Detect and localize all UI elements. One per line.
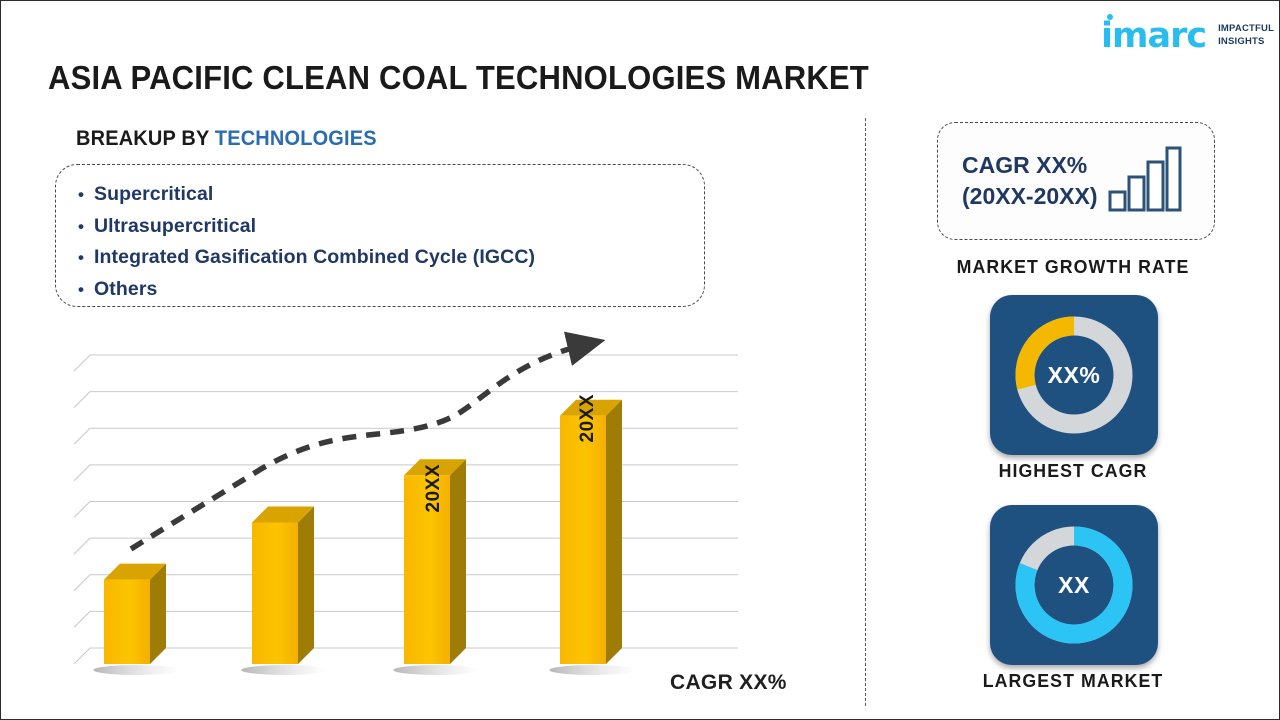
bar-side-face (450, 459, 466, 664)
cagr-line-2: (20XX-20XX) (962, 181, 1098, 212)
bullet-icon: • (78, 243, 94, 274)
bar-side-face (606, 400, 622, 664)
largest-market-card: XX (990, 505, 1158, 665)
list-item: • Others (78, 274, 704, 306)
list-item: • Supercritical (78, 179, 704, 211)
vertical-divider (865, 118, 866, 706)
bar-front-face (560, 416, 606, 664)
chart-cagr-annotation: CAGR XX% (670, 671, 787, 695)
logo-dot-icon (1107, 14, 1113, 20)
logo-wordmark-text: imarc (1101, 16, 1206, 56)
logo-tagline: IMPACTFUL INSIGHTS (1218, 23, 1274, 49)
gridline (74, 428, 738, 444)
bar-side-face (150, 564, 166, 664)
imarc-logo: imarc IMPACTFUL INSIGHTS (1101, 15, 1271, 57)
bullet-icon: • (78, 212, 94, 243)
bar-chart-icon (1108, 146, 1182, 217)
bullet-icon: • (78, 180, 94, 211)
cagr-line-1: CAGR XX% (962, 150, 1098, 181)
list-item: • Integrated Gasification Combined Cycle… (78, 242, 704, 274)
gridline (74, 355, 738, 371)
logo-tagline-line2: INSIGHTS (1218, 36, 1274, 49)
bullet-icon: • (78, 275, 94, 306)
bar-shadow (241, 665, 328, 675)
list-item-label: Others (94, 274, 157, 305)
slide-canvas: imarc IMPACTFUL INSIGHTS ASIA PACIFIC CL… (0, 0, 1280, 720)
bar-shadow (93, 665, 180, 675)
logo-wordmark: imarc (1101, 19, 1206, 54)
logo-tagline-line1: IMPACTFUL (1218, 23, 1274, 36)
bar-front-face (104, 580, 150, 664)
largest-market-label: LARGEST MARKET (873, 670, 1272, 692)
page-title: ASIA PACIFIC CLEAN COAL TECHNOLOGIES MAR… (48, 59, 869, 97)
bar-value-label-3: 20XX (423, 464, 445, 512)
chart-svg (56, 331, 756, 706)
list-item-label: Ultrasupercritical (94, 211, 256, 242)
market-growth-rate-label: MARKET GROWTH RATE (873, 256, 1272, 278)
technologies-list-box: • Supercritical • Ultrasupercritical • I… (55, 164, 705, 307)
growth-rate-bar-chart: 20XX 20XX CAGR XX% GROWTH RATE (56, 331, 756, 706)
chart-bars (93, 400, 636, 675)
cagr-value-text: CAGR XX% (20XX-20XX) (962, 150, 1098, 212)
breakup-heading-accent: TECHNOLOGIES (215, 127, 377, 150)
market-growth-rate-box: CAGR XX% (20XX-20XX) (937, 122, 1215, 240)
highest-cagr-card: XX% (990, 295, 1158, 455)
bar-value-label-4: 20XX (577, 394, 599, 442)
breakup-heading: BREAKUP BY TECHNOLOGIES (76, 127, 377, 151)
bar-side-face (298, 506, 314, 664)
largest-market-value: XX (1058, 572, 1090, 599)
chart-trendline (131, 345, 584, 549)
bar-shadow (549, 665, 636, 675)
bar-shadow (393, 665, 480, 675)
highest-cagr-label: HIGHEST CAGR (873, 460, 1272, 482)
breakup-heading-prefix: BREAKUP BY (76, 127, 215, 150)
list-item: • Ultrasupercritical (78, 211, 704, 243)
gridline (74, 392, 738, 408)
highest-cagr-value: XX% (1048, 362, 1101, 389)
list-item-label: Supercritical (94, 179, 213, 210)
bar-front-face (252, 522, 298, 664)
list-item-label: Integrated Gasification Combined Cycle (… (94, 242, 535, 273)
